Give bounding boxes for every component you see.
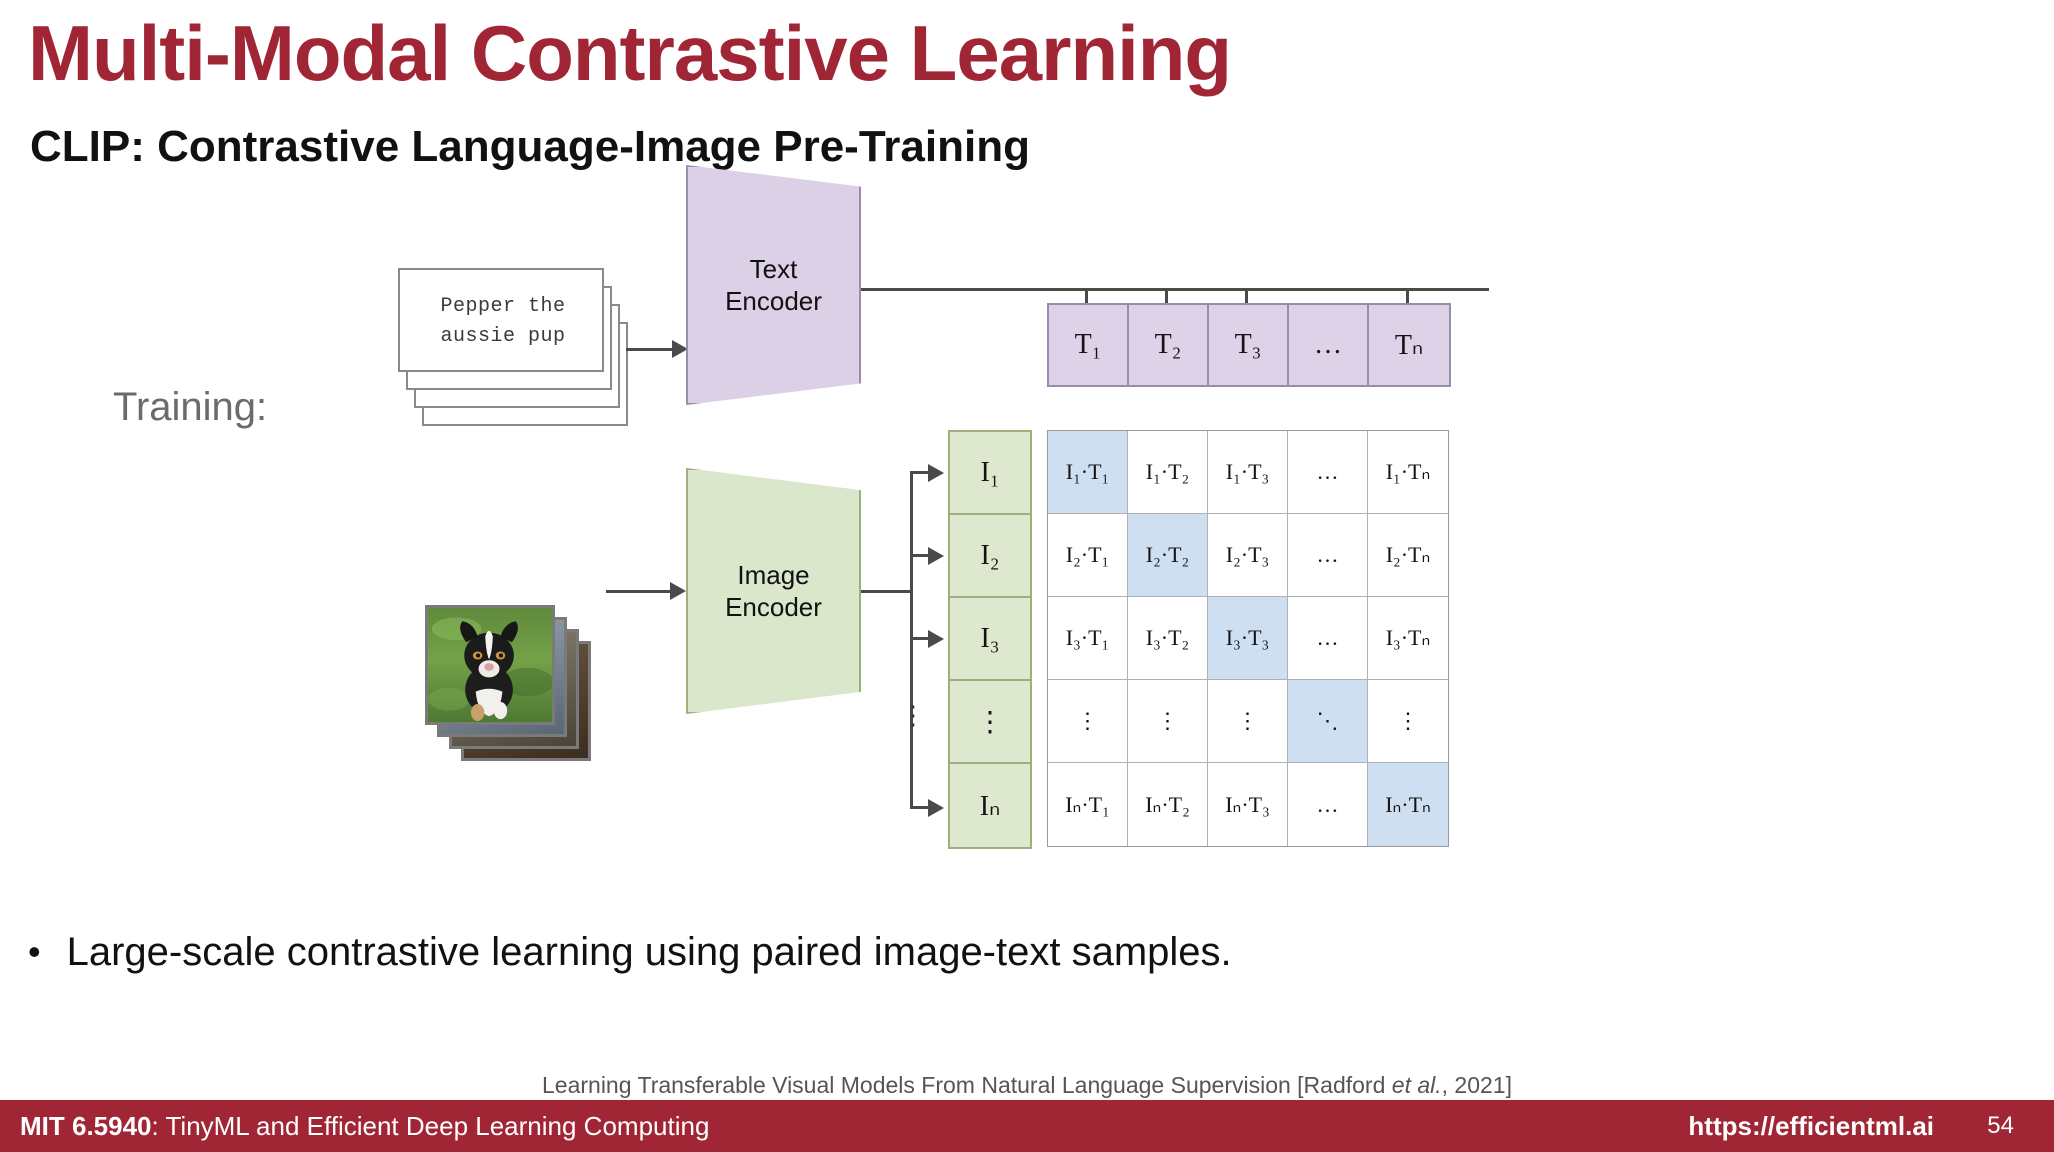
text-input-arrow-head [672,340,688,358]
matrix-cell: ⋮ [1128,680,1208,763]
image-bus-arrow-3 [928,630,944,648]
matrix-cell: Iₙ·T₃ [1208,763,1288,846]
text-encoder-block: Text Encoder [686,165,861,405]
citation-before: Learning Transferable Visual Models From… [542,1072,1392,1098]
matrix-cell: I₂·T₁ [1048,514,1128,597]
footer-url-link[interactable]: https://efficientml.ai [1688,1111,1934,1142]
text-card-line-2: aussie pup [440,322,565,352]
matrix-cell: … [1288,431,1368,514]
matrix-cell: … [1288,763,1368,846]
matrix-cell: I₂·T₂ [1128,514,1208,597]
footer-page-number: 54 [1987,1112,2014,1140]
image-bus-arrow-4 [928,799,944,817]
image-embedding-cell: I₂ [950,515,1030,598]
image-card-front [425,605,555,725]
footer-bar: MIT 6.5940: TinyML and Efficient Deep Le… [0,1100,2054,1152]
image-encoder-label: Image Encoder [725,559,822,624]
image-input-arrow-head [670,582,686,600]
image-bus-arrow-2 [928,547,944,565]
bullet-text: Large-scale contrastive learning using p… [67,930,1232,975]
image-encoder-block: Image Encoder [686,468,861,714]
text-card-line-1: Pepper the [440,292,565,322]
matrix-cell: ⋮ [1368,680,1448,763]
text-encoder-line-2: Encoder [725,285,822,318]
bullet-list-item: • Large-scale contrastive learning using… [28,930,1232,975]
text-input-arrow-line [626,348,678,351]
image-embedding-column: I₁ I₂ I₃ ⋮ Iₙ [948,430,1032,849]
text-bus-horizontal [861,288,1489,291]
similarity-matrix: I₁·T₁ I₁·T₂ I₁·T₃ … I₁·Tₙ I₂·T₁ I₂·T₂ I₂… [1047,430,1449,847]
matrix-cell: I₃·Tₙ [1368,597,1448,680]
text-encoder-line-1: Text [725,253,822,286]
image-embedding-cell: Iₙ [950,764,1030,847]
image-encoder-line-2: Encoder [725,591,822,624]
footer-course-description: TinyML and Efficient Deep Learning Compu… [166,1111,710,1141]
matrix-cell: I₂·Tₙ [1368,514,1448,597]
text-embedding-cell: Tₙ [1369,305,1449,385]
citation: Learning Transferable Visual Models From… [0,1072,2054,1099]
matrix-cell: I₁·T₁ [1048,431,1128,514]
matrix-cell: I₂·T₃ [1208,514,1288,597]
matrix-cell: Iₙ·Tₙ [1368,763,1448,846]
bullet-marker: • [28,930,41,970]
matrix-cell: ⋱ [1288,680,1368,763]
puppy-photo-icon [428,608,552,722]
matrix-cell: I₁·Tₙ [1368,431,1448,514]
matrix-cell: ⋮ [1048,680,1128,763]
matrix-cell: Iₙ·T₁ [1048,763,1128,846]
matrix-cell: Iₙ·T₂ [1128,763,1208,846]
matrix-cell: ⋮ [1208,680,1288,763]
text-card-content: Pepper the aussie pup [400,270,606,374]
text-embedding-cell: T₃ [1209,305,1289,385]
matrix-cell: … [1288,597,1368,680]
text-embedding-row: T₁ T₂ T₃ … Tₙ [1047,303,1451,387]
image-bus-vertical [910,471,913,809]
image-embedding-cell: I₁ [950,432,1030,515]
page-subtitle: CLIP: Contrastive Language-Image Pre-Tra… [30,122,1030,172]
image-embedding-cell: I₃ [950,598,1030,681]
image-input-arrow-line [606,590,676,593]
image-bus-arrow-1 [928,464,944,482]
matrix-cell: I₃·T₂ [1128,597,1208,680]
text-embedding-cell: T₂ [1129,305,1209,385]
text-card-front: Pepper the aussie pup [398,268,604,372]
clip-diagram: Pepper the aussie pup Text Encoder … [0,190,2054,910]
text-embedding-cell: T₁ [1049,305,1129,385]
page-title: Multi-Modal Contrastive Learning [28,8,1231,99]
text-encoder-label: Text Encoder [725,253,822,318]
matrix-cell: I₃·T₃ [1208,597,1288,680]
text-card-stack: Pepper the aussie pup [398,268,628,428]
matrix-cell: … [1288,514,1368,597]
citation-after: , 2021] [1442,1072,1512,1098]
matrix-cell: I₁·T₂ [1128,431,1208,514]
text-embedding-cell: … [1289,305,1369,385]
image-card-stack [425,605,605,785]
footer-course-info: MIT 6.5940: TinyML and Efficient Deep Le… [20,1111,709,1142]
image-bus-ellipsis: ⋮ [900,708,922,722]
image-bus-stem [861,590,913,593]
matrix-cell: I₃·T₁ [1048,597,1128,680]
image-embedding-cell: ⋮ [950,681,1030,764]
matrix-cell: I₁·T₃ [1208,431,1288,514]
image-encoder-line-1: Image [725,559,822,592]
footer-course-code: MIT 6.5940 [20,1111,152,1141]
citation-italic: et al. [1392,1072,1442,1098]
footer-course-separator: : [152,1111,166,1141]
slide-root: Multi-Modal Contrastive Learning CLIP: C… [0,0,2054,1152]
